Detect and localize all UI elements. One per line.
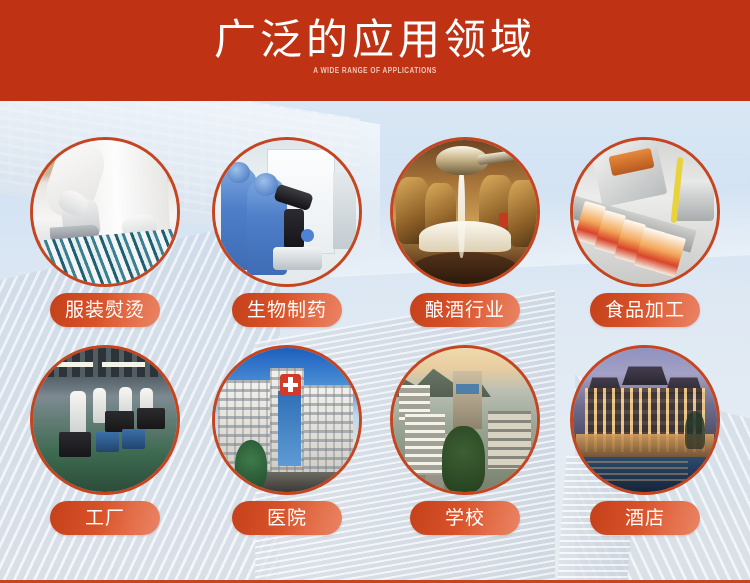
food-processing-photo [573,140,717,284]
application-card-garment-ironing[interactable]: 服装熨烫 [25,137,185,327]
page-subtitle: A WIDE RANGE OF APPLICATIONS [68,66,683,76]
card-label: 生物制药 [232,293,342,327]
biopharmaceutical-lab-photo [215,140,359,284]
card-label: 服装熨烫 [50,293,160,327]
factory-floor-photo [33,348,177,492]
page-title: 广泛的应用领域 [0,14,750,66]
card-label: 学校 [410,501,520,535]
application-card-school[interactable]: 学校 [385,345,545,535]
card-photo-circle [30,137,180,287]
card-label: 酿酒行业 [410,293,520,327]
card-photo-circle [570,345,720,495]
application-card-factory[interactable]: 工厂 [25,345,185,535]
garment-ironing-photo [33,140,177,284]
application-card-liquor-brewing[interactable]: 酿酒行业 [385,137,545,327]
card-photo-circle [212,345,362,495]
red-cross-emblem-icon [280,374,302,396]
card-label: 医院 [232,501,342,535]
school-campus-photo [393,348,537,492]
card-label: 酒店 [590,501,700,535]
card-photo-circle [570,137,720,287]
application-card-hotel[interactable]: 酒店 [565,345,725,535]
liquor-brewing-photo [393,140,537,284]
card-photo-circle [212,137,362,287]
application-card-food-processing[interactable]: 食品加工 [565,137,725,327]
banner-header: 广泛的应用领域 A WIDE RANGE OF APPLICATIONS [0,0,750,101]
application-fields-banner: 广泛的应用领域 A WIDE RANGE OF APPLICATIONS 服装熨… [0,0,750,583]
application-card-hospital[interactable]: 医院 [207,345,367,535]
hotel-exterior-photo [573,348,717,492]
card-photo-circle [390,345,540,495]
application-card-biopharmaceutical[interactable]: 生物制药 [207,137,367,327]
card-photo-circle [30,345,180,495]
card-label: 工厂 [50,501,160,535]
card-label: 食品加工 [590,293,700,327]
card-photo-circle [390,137,540,287]
hospital-building-photo [215,348,359,492]
